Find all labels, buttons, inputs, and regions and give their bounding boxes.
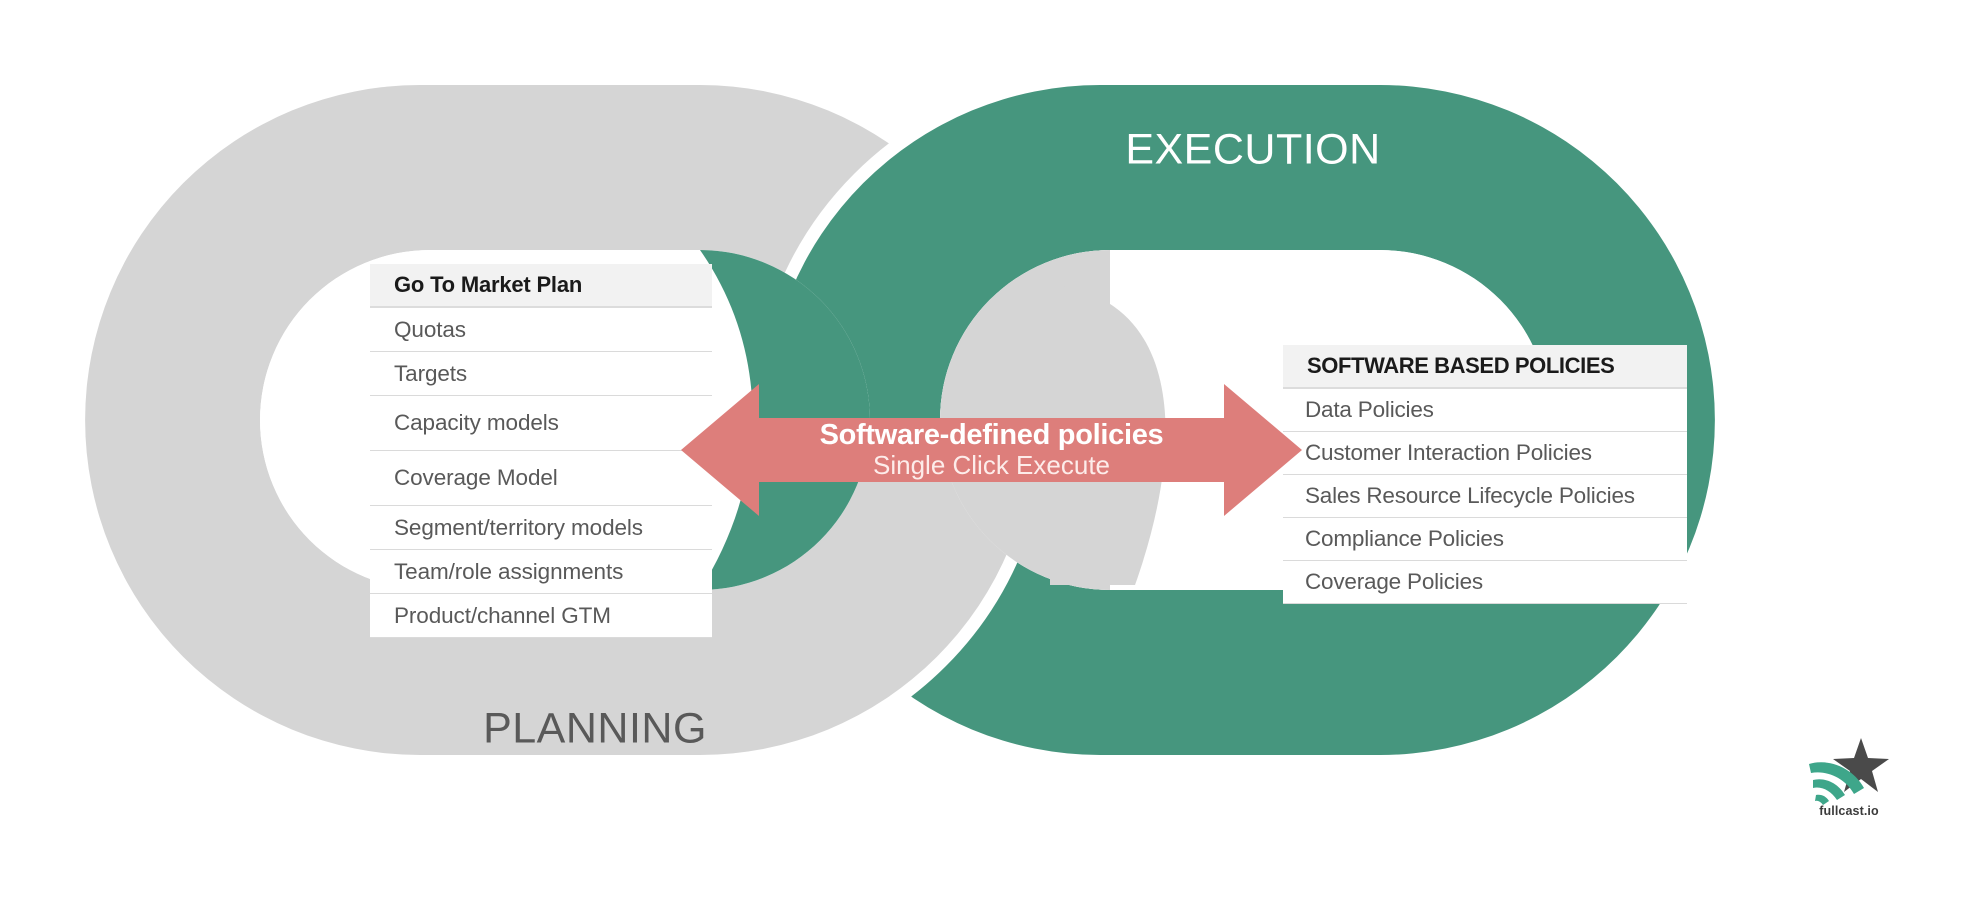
execution-loop-label: EXECUTION — [1125, 126, 1380, 175]
list-item[interactable]: Segment/territory models — [370, 506, 712, 550]
list-item[interactable]: Product/channel GTM — [370, 594, 712, 638]
list-item[interactable]: Coverage Policies — [1283, 561, 1687, 604]
list-item[interactable]: Customer Interaction Policies — [1283, 432, 1687, 475]
software-defined-policies-arrow: Software-defined policies Single Click E… — [681, 382, 1302, 518]
diagram-canvas: EXECUTION PLANNING Go To Market Plan Quo… — [0, 0, 1982, 900]
list-item[interactable]: Sales Resource Lifecycle Policies — [1283, 475, 1687, 518]
planning-loop-label: PLANNING — [483, 705, 707, 754]
go-to-market-plan-panel: Go To Market Plan Quotas Targets Capacit… — [370, 264, 712, 638]
list-item[interactable]: Compliance Policies — [1283, 518, 1687, 561]
fullcast-logo: fullcast.io — [1793, 738, 1905, 834]
panel-header-policies: SOFTWARE BASED POLICIES — [1283, 345, 1687, 389]
software-based-policies-panel: SOFTWARE BASED POLICIES Data Policies Cu… — [1283, 345, 1687, 604]
list-item[interactable]: Data Policies — [1283, 389, 1687, 432]
list-item[interactable]: Team/role assignments — [370, 550, 712, 594]
list-item[interactable]: Coverage Model — [370, 451, 712, 506]
list-item[interactable]: Quotas — [370, 308, 712, 352]
fullcast-logo-text: fullcast.io — [1793, 804, 1905, 818]
fullcast-star-icon — [1807, 738, 1891, 806]
list-item[interactable]: Targets — [370, 352, 712, 396]
list-item[interactable]: Capacity models — [370, 396, 712, 451]
double-headed-arrow-icon — [681, 382, 1302, 518]
panel-header-gtm: Go To Market Plan — [370, 264, 712, 308]
